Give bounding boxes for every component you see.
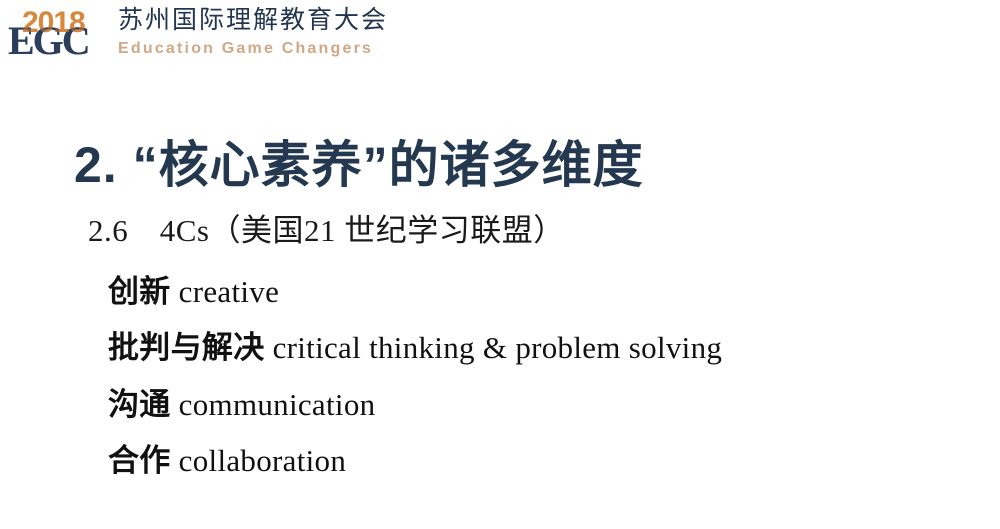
conference-name-cn: 苏州国际理解教育大会	[118, 7, 388, 36]
list-item-label-cn: 批判与解决	[108, 330, 265, 365]
list-item-label-en: communication	[179, 387, 376, 422]
slide-body: 2.6 4Cs（美国21 世纪学习联盟） 创新 creative 批判与解决 c…	[0, 210, 1000, 489]
list-item: 批判与解决 critical thinking & problem solvin…	[108, 320, 1000, 376]
conference-tagline-en: Education Game Changers	[118, 39, 388, 58]
list-item: 沟通 communication	[108, 377, 1000, 433]
conference-logo-icon: EGC 2018 EGC	[8, 8, 108, 68]
list-item-label-en: critical thinking & problem solving	[273, 330, 723, 365]
list-item-label-en: collaboration	[179, 443, 346, 478]
slide-title: 2. “核心素养”的诸多维度	[74, 134, 644, 197]
list-item-label-cn: 沟通	[108, 387, 171, 422]
slide-header: EGC 2018 EGC 苏州国际理解教育大会 Education Game C…	[0, 0, 1000, 80]
section-subheading: 2.6 4Cs（美国21 世纪学习联盟）	[88, 210, 1000, 252]
four-cs-list: 创新 creative 批判与解决 critical thinking & pr…	[0, 264, 1000, 490]
list-item: 合作 collaboration	[108, 433, 1000, 489]
logo-year-text: 2018	[22, 8, 85, 38]
list-item-label-cn: 合作	[108, 443, 171, 478]
list-item-label-cn: 创新	[108, 274, 171, 309]
conference-title-block: 苏州国际理解教育大会 Education Game Changers	[118, 7, 388, 58]
list-item-label-en: creative	[179, 274, 280, 309]
list-item: 创新 creative	[108, 264, 1000, 320]
